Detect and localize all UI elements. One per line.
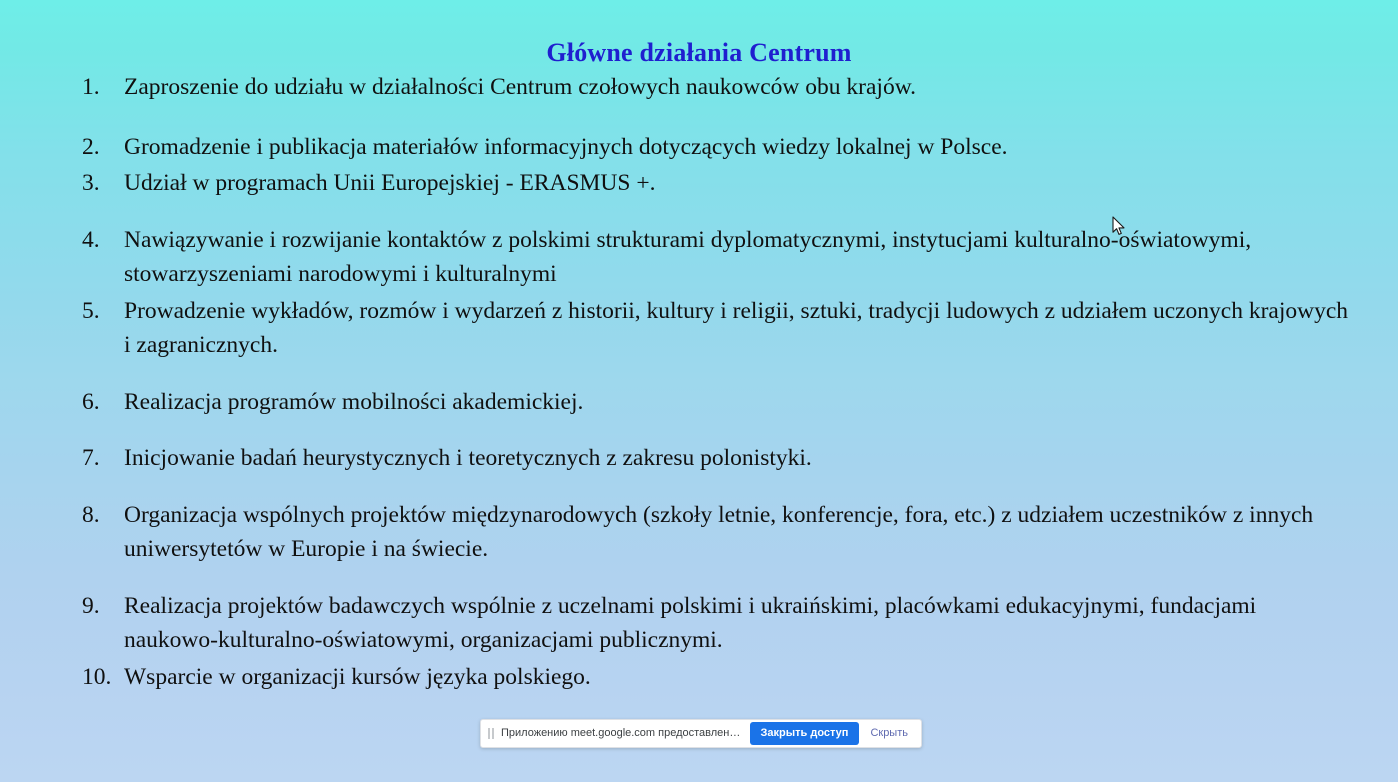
list-item-text: Wsparcie w organizacji kursów języka pol… bbox=[124, 660, 1352, 695]
list-item: 3. Udział w programach Unii Europejskiej… bbox=[82, 166, 1352, 201]
list-item-number: 6. bbox=[82, 385, 124, 420]
list-item-text: Realizacja projektów badawczych wspólnie… bbox=[124, 589, 1352, 658]
screenshare-notification-bar: Приложению meet.google.com предоставлен … bbox=[480, 719, 922, 748]
list-item-text: Prowadzenie wykładów, rozmów i wydarzeń … bbox=[124, 294, 1352, 363]
list-item: 9. Realizacja projektów badawczych wspól… bbox=[82, 589, 1352, 658]
list-item-number: 1. bbox=[82, 70, 124, 105]
list-item: 2. Gromadzenie i publikacja materiałów i… bbox=[82, 130, 1352, 165]
list-item-text: Udział w programach Unii Europejskiej - … bbox=[124, 166, 1352, 201]
list-item-number: 7. bbox=[82, 441, 124, 476]
list-item-number: 2. bbox=[82, 130, 124, 165]
list-item-text: Realizacja programów mobilności akademic… bbox=[124, 385, 1352, 420]
list-item-number: 10. bbox=[82, 660, 124, 695]
stop-sharing-button[interactable]: Закрыть доступ bbox=[750, 722, 860, 745]
list-item-number: 3. bbox=[82, 166, 124, 201]
list-item-number: 8. bbox=[82, 498, 124, 533]
screenshare-message: Приложению meet.google.com предоставлен … bbox=[501, 727, 742, 740]
list-item: 4. Nawiązywanie i rozwijanie kontaktów z… bbox=[82, 223, 1352, 292]
list-item-text: Zaproszenie do udziału w działalności Ce… bbox=[124, 70, 1352, 105]
list-item: 6. Realizacja programów mobilności akade… bbox=[82, 385, 1352, 420]
list-item: 5. Prowadzenie wykładów, rozmów i wydarz… bbox=[82, 294, 1352, 363]
list-item-text: Inicjowanie badań heurystycznych i teore… bbox=[124, 441, 1352, 476]
list-item-text: Organizacja wspólnych projektów międzyna… bbox=[124, 498, 1352, 567]
agenda-list: 1. Zaproszenie do udziału w działalności… bbox=[82, 70, 1352, 694]
list-item-number: 5. bbox=[82, 294, 124, 329]
list-item: 1. Zaproszenie do udziału w działalności… bbox=[82, 70, 1352, 105]
list-item-text: Gromadzenie i publikacja materiałów info… bbox=[124, 130, 1352, 165]
list-item-text: Nawiązywanie i rozwijanie kontaktów z po… bbox=[124, 223, 1352, 292]
list-item-number: 9. bbox=[82, 589, 124, 624]
list-item: 8. Organizacja wspólnych projektów międz… bbox=[82, 498, 1352, 567]
presentation-slide: Główne działania Centrum 1. Zaproszenie … bbox=[0, 0, 1398, 782]
list-item: 7. Inicjowanie badań heurystycznych i te… bbox=[82, 441, 1352, 476]
page-title: Główne działania Centrum bbox=[0, 38, 1398, 68]
drag-handle-icon[interactable] bbox=[488, 728, 494, 739]
hide-bar-button[interactable]: Скрыть bbox=[862, 722, 916, 745]
list-item: 10. Wsparcie w organizacji kursów języka… bbox=[82, 660, 1352, 695]
list-item-number: 4. bbox=[82, 223, 124, 258]
